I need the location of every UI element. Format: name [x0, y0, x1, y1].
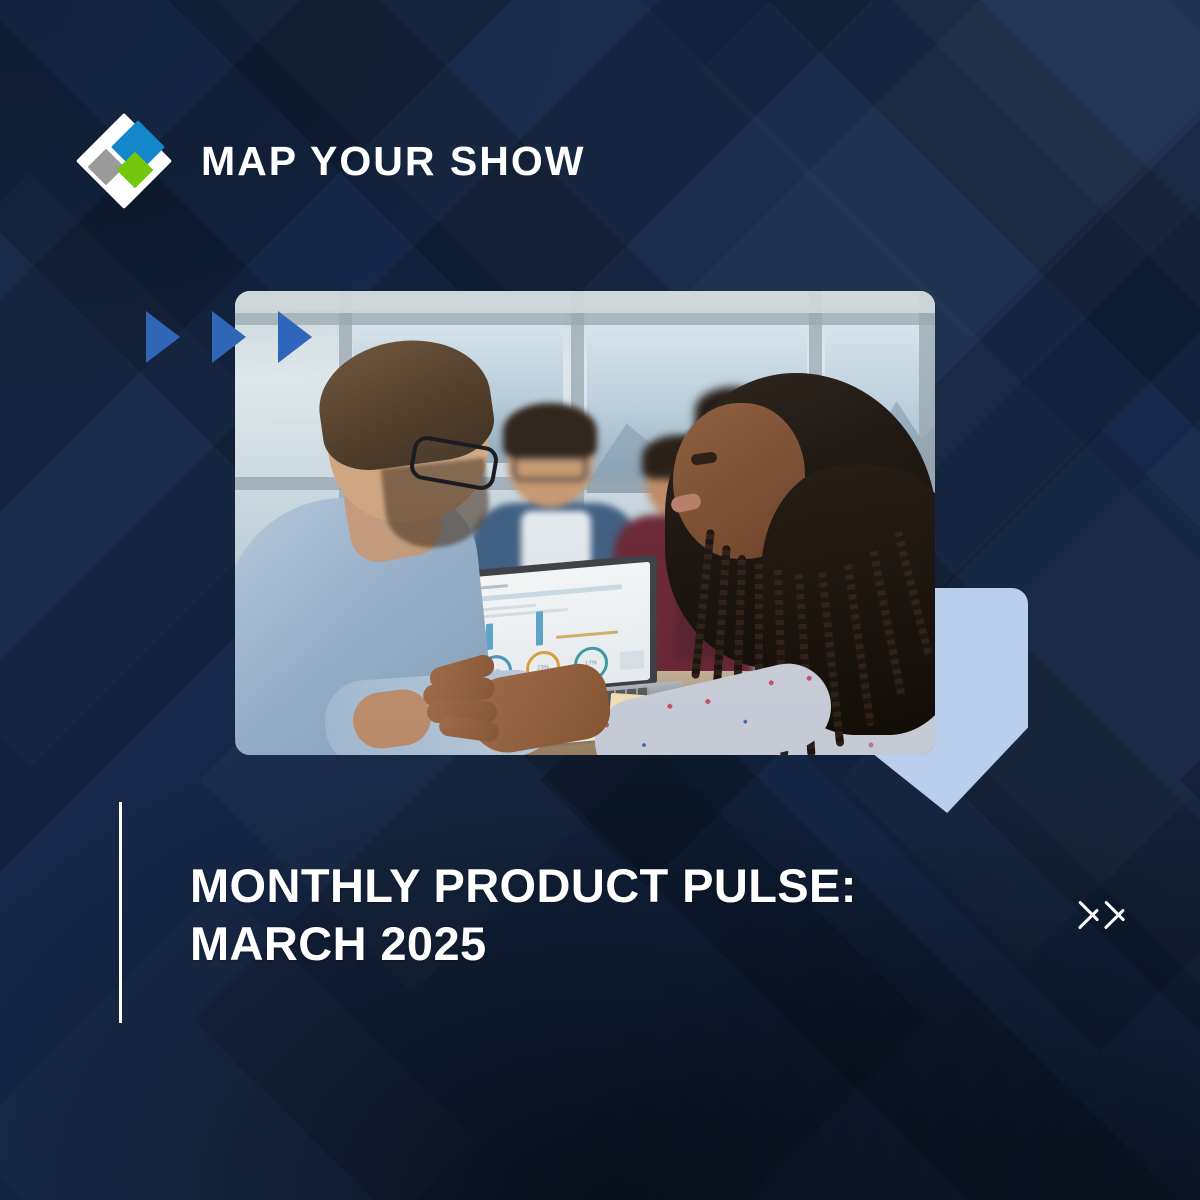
- diamond-logo-icon: [76, 113, 172, 209]
- play-triangle-icon: [212, 311, 246, 363]
- page-title: MONTHLY PRODUCT PULSE: MARCH 2025: [190, 857, 857, 973]
- play-triangle-icon: [278, 311, 312, 363]
- title-accent-rule: [119, 802, 122, 1023]
- brand-lockup: MAP YOUR SHOW: [76, 113, 585, 209]
- play-triangle-icon: [146, 311, 180, 363]
- slide-canvas: MAP YOUR SHOW: [0, 0, 1200, 1200]
- double-chevron-right-icon[interactable]: [1077, 887, 1137, 943]
- hero-photo: 35% 23% 17%: [235, 291, 935, 755]
- brand-name: MAP YOUR SHOW: [201, 141, 585, 182]
